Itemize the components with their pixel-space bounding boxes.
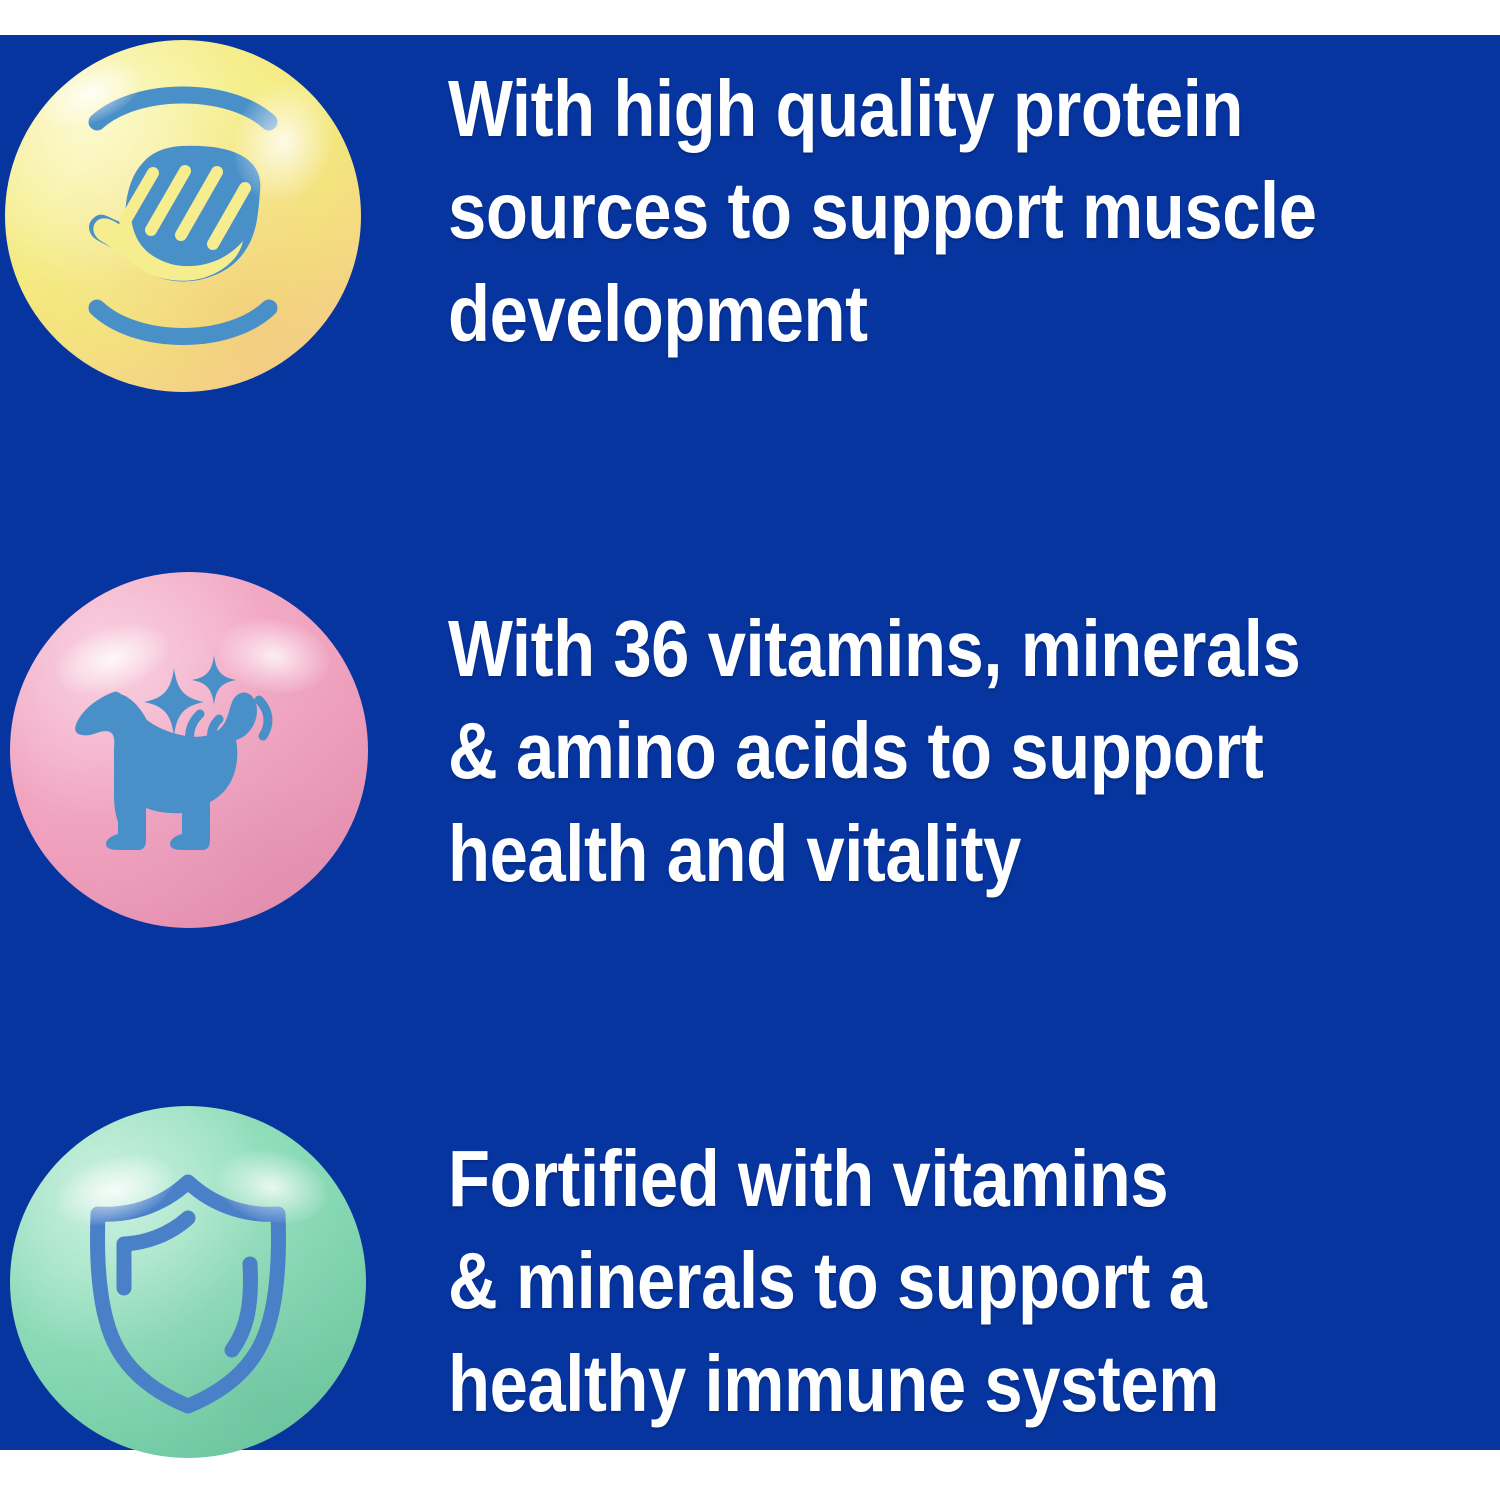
feature-text-protein: With high quality protein sources to sup… — [448, 58, 1500, 365]
feature-text-vitamins: With 36 vitamins, minerals & amino acids… — [448, 598, 1500, 905]
feature-line: sources to support muscle — [448, 166, 1317, 255]
feature-line: With high quality protein — [448, 64, 1243, 153]
feature-line: development — [448, 269, 868, 358]
happy-dog-sparkle-icon — [10, 572, 368, 928]
steak-plate-glyph — [5, 40, 361, 392]
feature-line: health and vitality — [448, 809, 1021, 898]
shield-icon — [10, 1106, 366, 1458]
feature-line: healthy immune system — [448, 1339, 1219, 1428]
shield-glyph — [10, 1106, 366, 1458]
feature-line: & amino acids to support — [448, 706, 1263, 795]
dog-sparkle-glyph — [10, 572, 368, 928]
product-benefits-infographic: With high quality protein sources to sup… — [0, 0, 1500, 1500]
feature-line: & minerals to support a — [448, 1236, 1207, 1325]
feature-line: With 36 vitamins, minerals — [448, 604, 1300, 693]
feature-line: Fortified with vitamins — [448, 1134, 1168, 1223]
steak-plate-icon — [5, 40, 361, 392]
feature-text-immune: Fortified with vitamins & minerals to su… — [448, 1128, 1500, 1435]
